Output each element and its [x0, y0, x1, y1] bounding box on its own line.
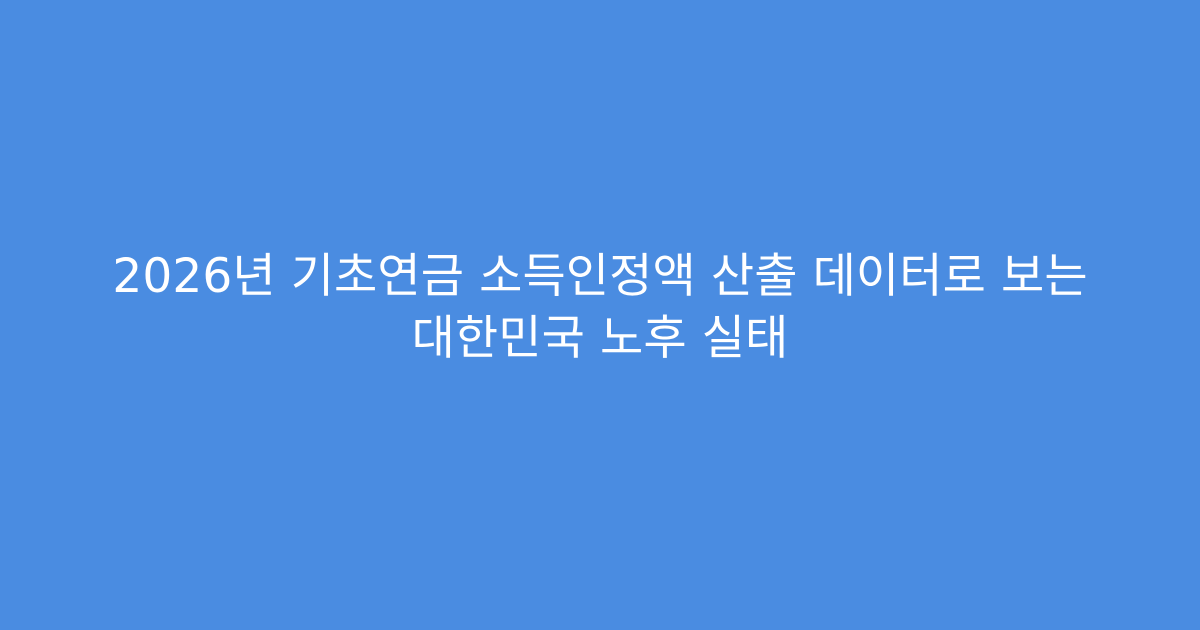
title-block: 2026년 기초연금 소득인정액 산출 데이터로 보는 대한민국 노후 실태	[50, 246, 1150, 370]
page-title: 2026년 기초연금 소득인정액 산출 데이터로 보는 대한민국 노후 실태	[112, 246, 1087, 370]
og-card: 2026년 기초연금 소득인정액 산출 데이터로 보는 대한민국 노후 실태	[0, 0, 1200, 630]
